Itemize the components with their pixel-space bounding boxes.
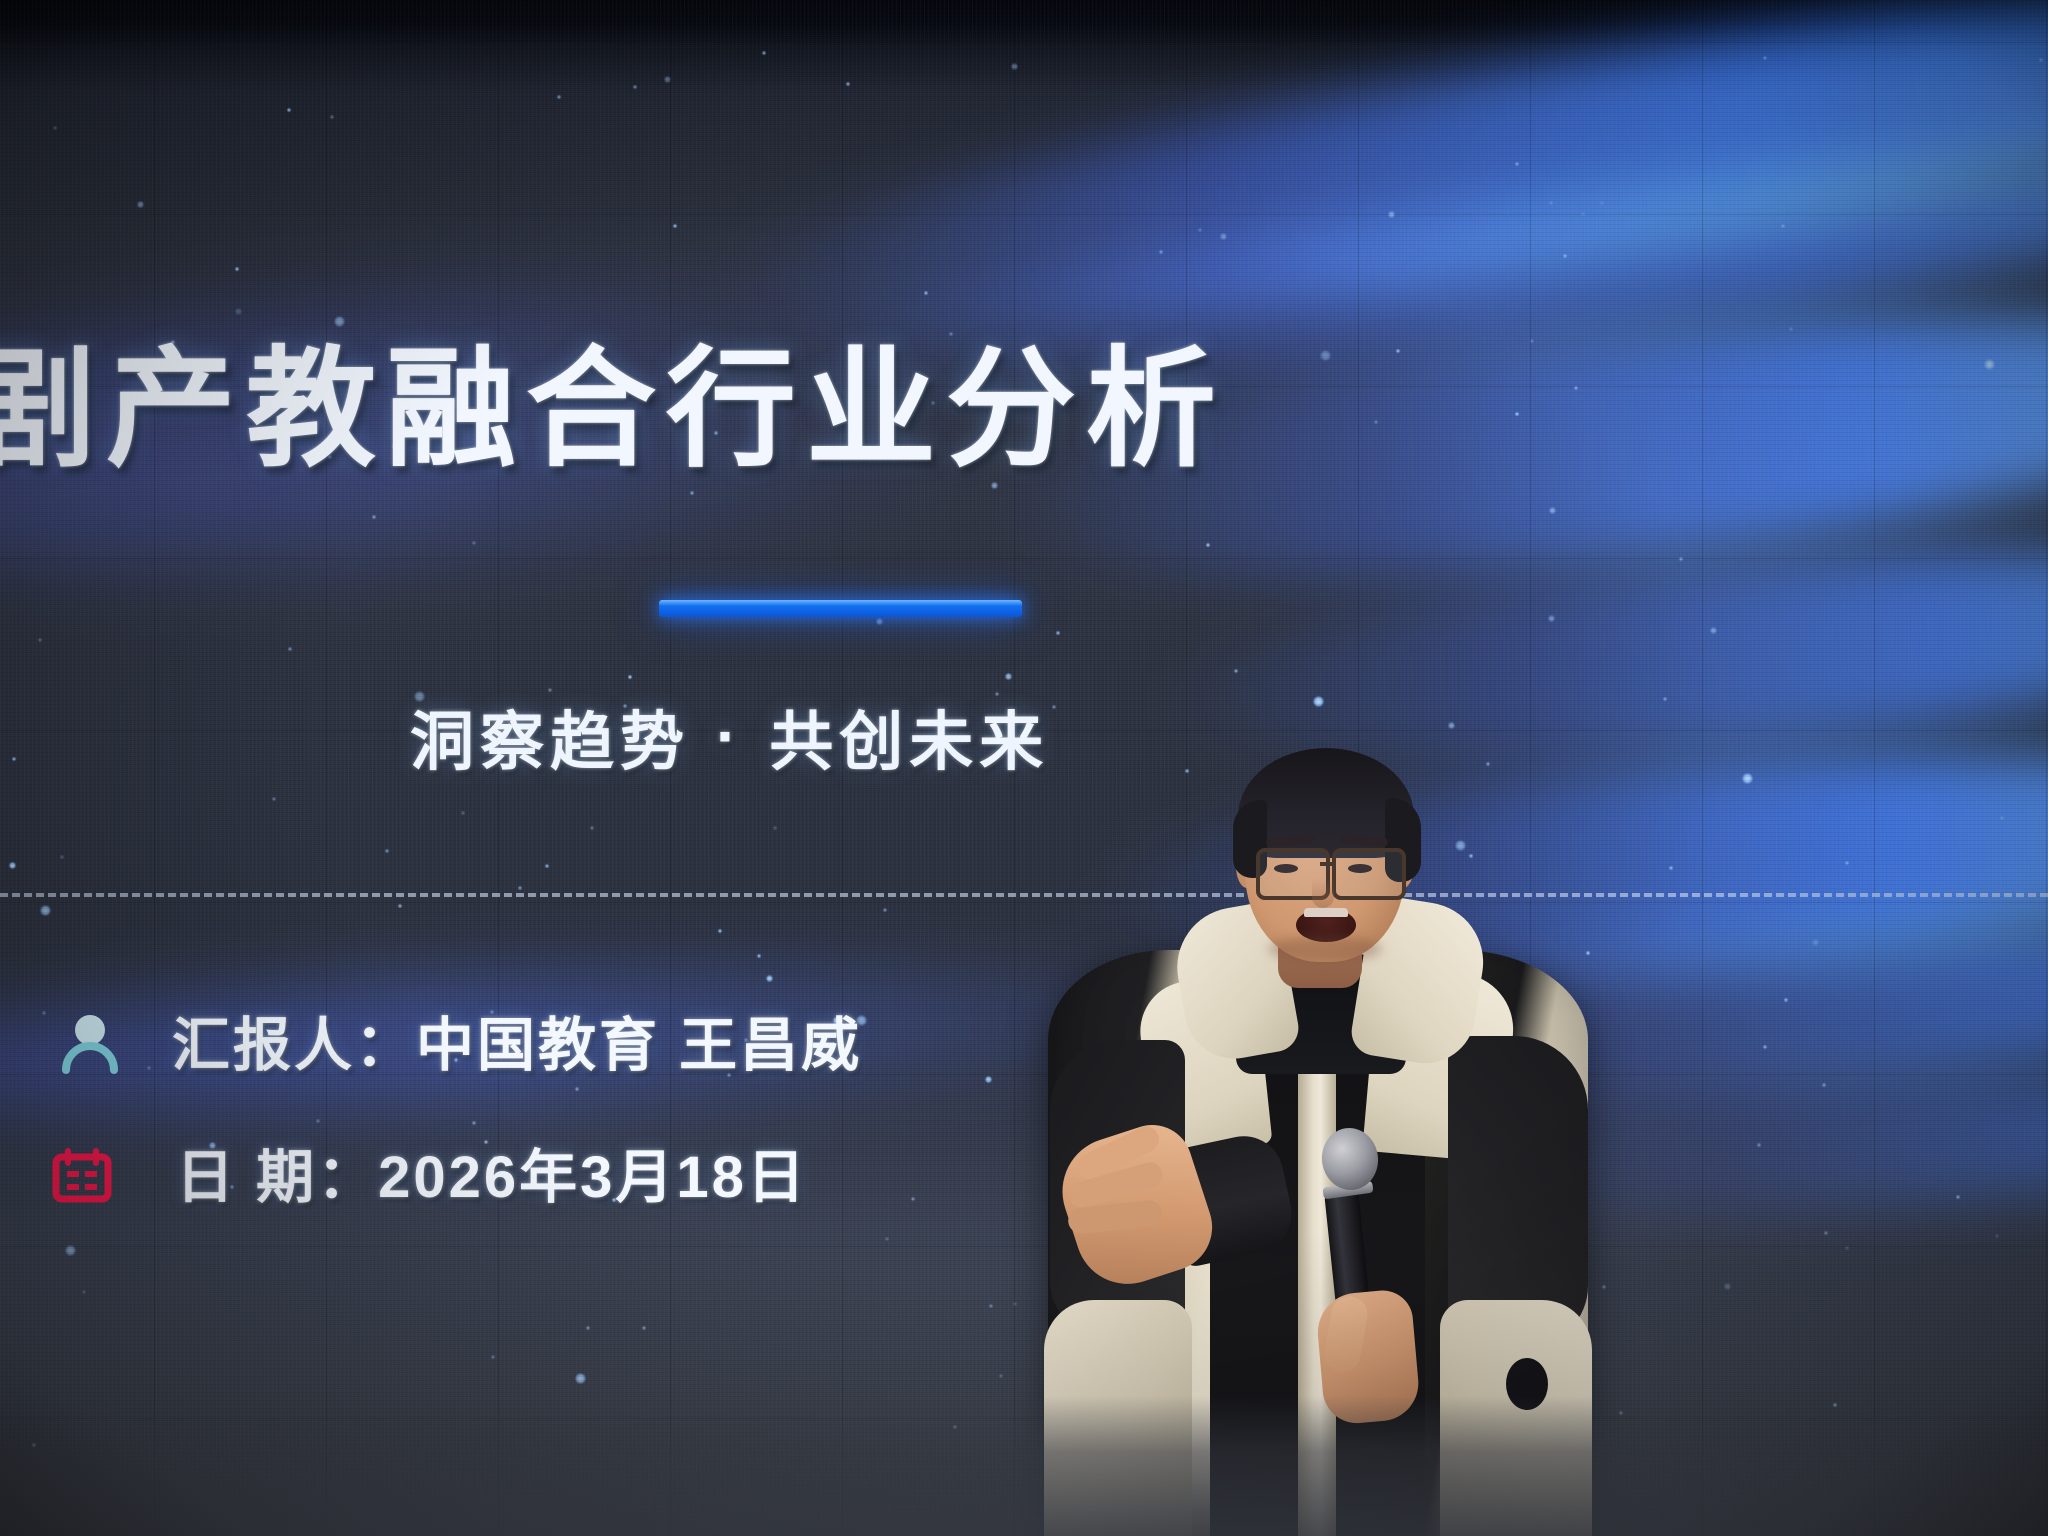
calendar-icon	[44, 1140, 120, 1216]
date-text: 日 期：2026年3月18日	[176, 1149, 808, 1207]
title-accent-bar	[659, 600, 1022, 617]
teeth	[1304, 908, 1348, 917]
subtitle-separator-dot: ·	[716, 704, 743, 768]
glasses-lens-right	[1332, 848, 1406, 900]
date-row: 日 期：2026年3月18日	[44, 1140, 808, 1216]
subtitle-left-text: 洞察趋势	[410, 706, 690, 778]
person-icon	[52, 1008, 128, 1084]
dashed-divider	[0, 893, 2048, 897]
presenter-text: 汇报人：中国教育 王昌威	[172, 1017, 862, 1075]
presenter-row: 汇报人：中国教育 王昌威	[52, 1008, 862, 1084]
glasses-bridge	[1320, 862, 1334, 866]
nose	[1312, 878, 1334, 908]
slide-title: 剧产教融合行业分析	[0, 344, 1486, 474]
chin-shadow	[1268, 936, 1382, 962]
subtitle-right-text: 共创未来	[769, 706, 1049, 778]
slide-subtitle: 洞察趋势·共创未来	[410, 710, 1049, 774]
stage-floor-strip	[0, 1396, 2048, 1536]
stage-photo: 剧产教融合行业分析 洞察趋势·共创未来 汇报人：中国教育 王昌威 日 期：202…	[0, 0, 2048, 1536]
